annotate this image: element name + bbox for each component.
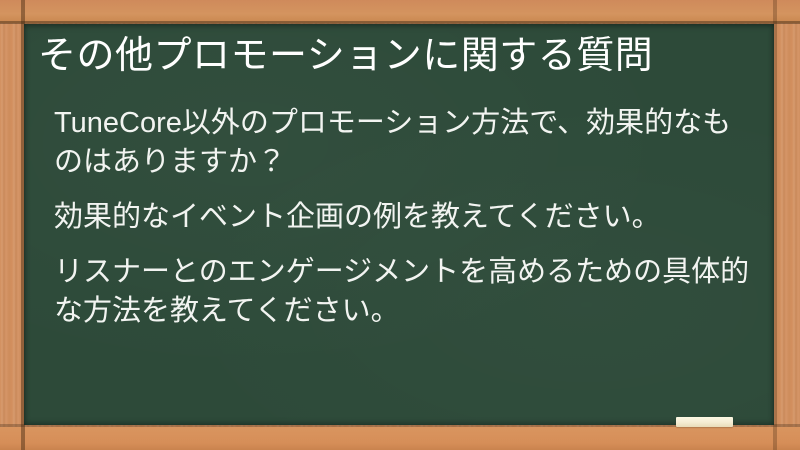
question-item: TuneCore以外のプロモーション方法で、効果的なものはありますか？ xyxy=(54,104,760,182)
question-item: リスナーとのエンゲージメントを高めるための具体的な方法を教えてください。 xyxy=(54,253,760,331)
question-list: TuneCore以外のプロモーション方法で、効果的なものはありますか？ 効果的な… xyxy=(54,104,760,331)
frame-rail-bottom xyxy=(0,427,800,450)
blackboard-slide: その他プロモーションに関する質問 TuneCore以外のプロモーション方法で、効… xyxy=(0,0,800,450)
chalk-stick-icon xyxy=(676,417,733,427)
frame-rail-top xyxy=(0,0,800,23)
question-item: 効果的なイベント企画の例を教えてください。 xyxy=(54,198,760,237)
chalkboard-surface: その他プロモーションに関する質問 TuneCore以外のプロモーション方法で、効… xyxy=(24,24,774,425)
slide-title: その他プロモーションに関する質問 xyxy=(38,31,758,81)
